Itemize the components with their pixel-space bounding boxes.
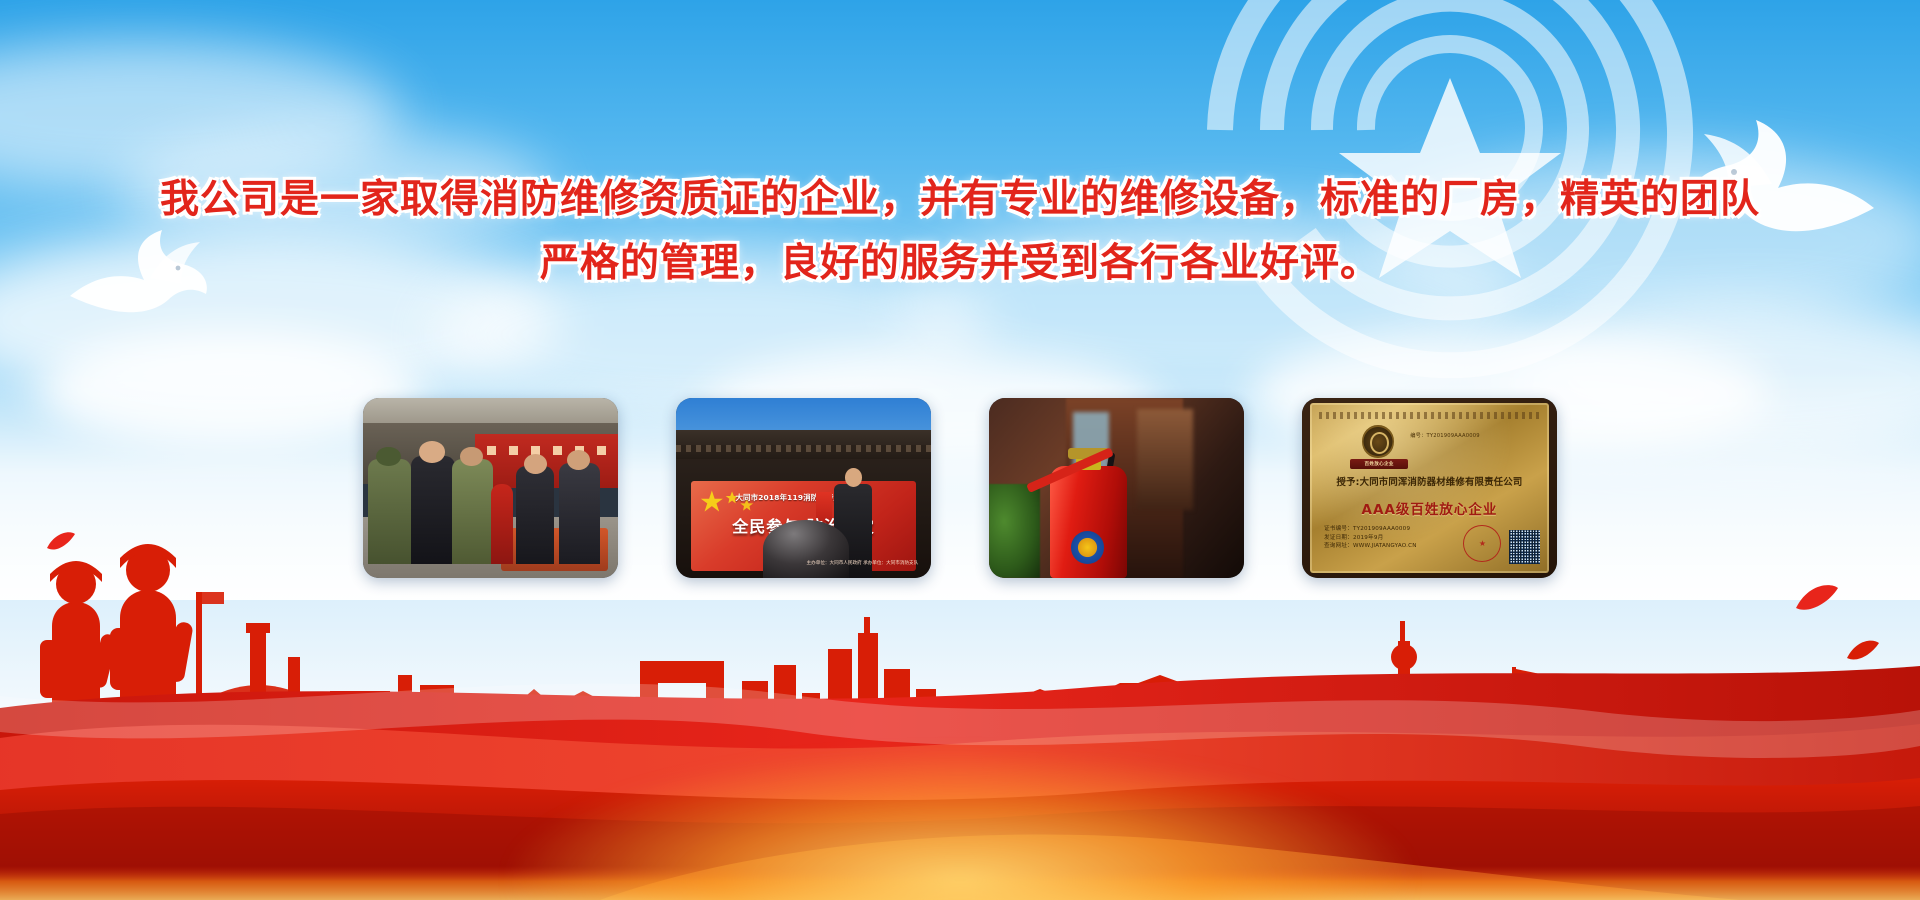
headline-text: 我公司是一家取得消防维修资质证的企业，并有专业的维修设备，标准的厂房，精英的团队… (0, 168, 1920, 296)
red-ribbon-wave (0, 470, 1920, 900)
certification-emblem-icon (1362, 425, 1393, 457)
headline-line-2: 严格的管理，良好的服务并受到各行各业好评。 (0, 232, 1920, 296)
certificate-number-top: 编号：TY201909AAA0009 (1410, 432, 1479, 439)
emblem-ribbon: 百姓放心企业 (1350, 459, 1408, 469)
headline-line-1: 我公司是一家取得消防维修资质证的企业，并有专业的维修设备，标准的厂房，精英的团队 (0, 168, 1920, 232)
red-ribbon-footer (0, 470, 1920, 900)
promotional-banner: 我公司是一家取得消防维修资质证的企业，并有专业的维修设备，标准的厂房，精英的团队… (0, 0, 1920, 900)
emblem-text: 百姓放心企业 (1350, 459, 1408, 469)
